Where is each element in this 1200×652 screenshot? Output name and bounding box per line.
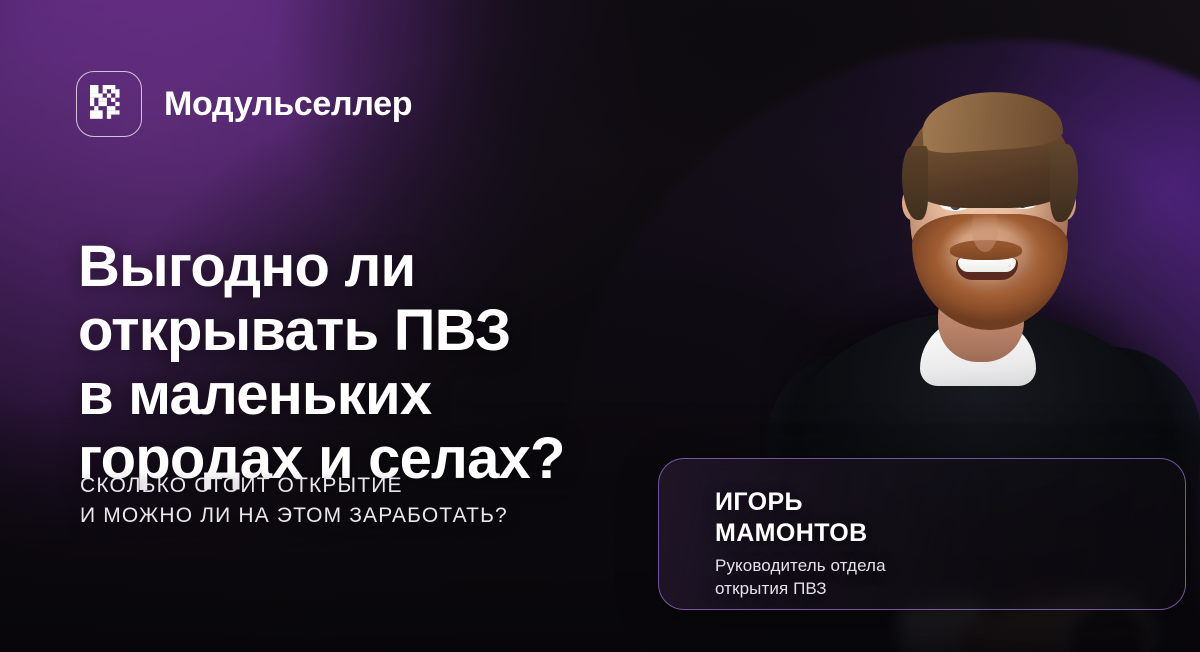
headline-line-3: в маленьких [78,363,565,427]
speaker-role: Руководитель отдела открытия ПВЗ [715,555,1185,601]
speaker-last-name: МАМОНТОВ [715,518,1185,549]
promo-banner: Модульселлер Выгодно ли открывать ПВЗ в … [0,0,1200,652]
teeth [958,258,1016,272]
speaker-role-line-2: открытия ПВЗ [715,578,1185,601]
modulseller-pixel-mark-icon [76,71,142,137]
brand-name: Модульселлер [164,85,412,124]
subtitle-line-1: СКОЛЬКО СТОИТ ОТКРЫТИЕ [80,471,508,501]
hair-sweep [920,87,1064,155]
headline-line-1: Выгодно ли [78,235,565,299]
page-subtitle: СКОЛЬКО СТОИТ ОТКРЫТИЕ И МОЖНО ЛИ НА ЭТО… [80,471,508,531]
speaker-role-line-1: Руководитель отдела [715,555,1185,578]
brand-logo[interactable]: Модульселлер [76,71,412,137]
speaker-card: ИГОРЬ МАМОНТОВ Руководитель отдела откры… [658,458,1186,610]
page-title: Выгодно ли открывать ПВЗ в маленьких гор… [78,235,565,491]
speaker-first-name: ИГОРЬ [715,487,1185,518]
nose [972,206,998,252]
subtitle-line-2: И МОЖНО ЛИ НА ЭТОМ ЗАРАБОТАТЬ? [80,501,508,531]
mouth [956,258,1018,280]
headline-line-2: открывать ПВЗ [78,299,565,363]
speaker-name: ИГОРЬ МАМОНТОВ [715,487,1185,548]
